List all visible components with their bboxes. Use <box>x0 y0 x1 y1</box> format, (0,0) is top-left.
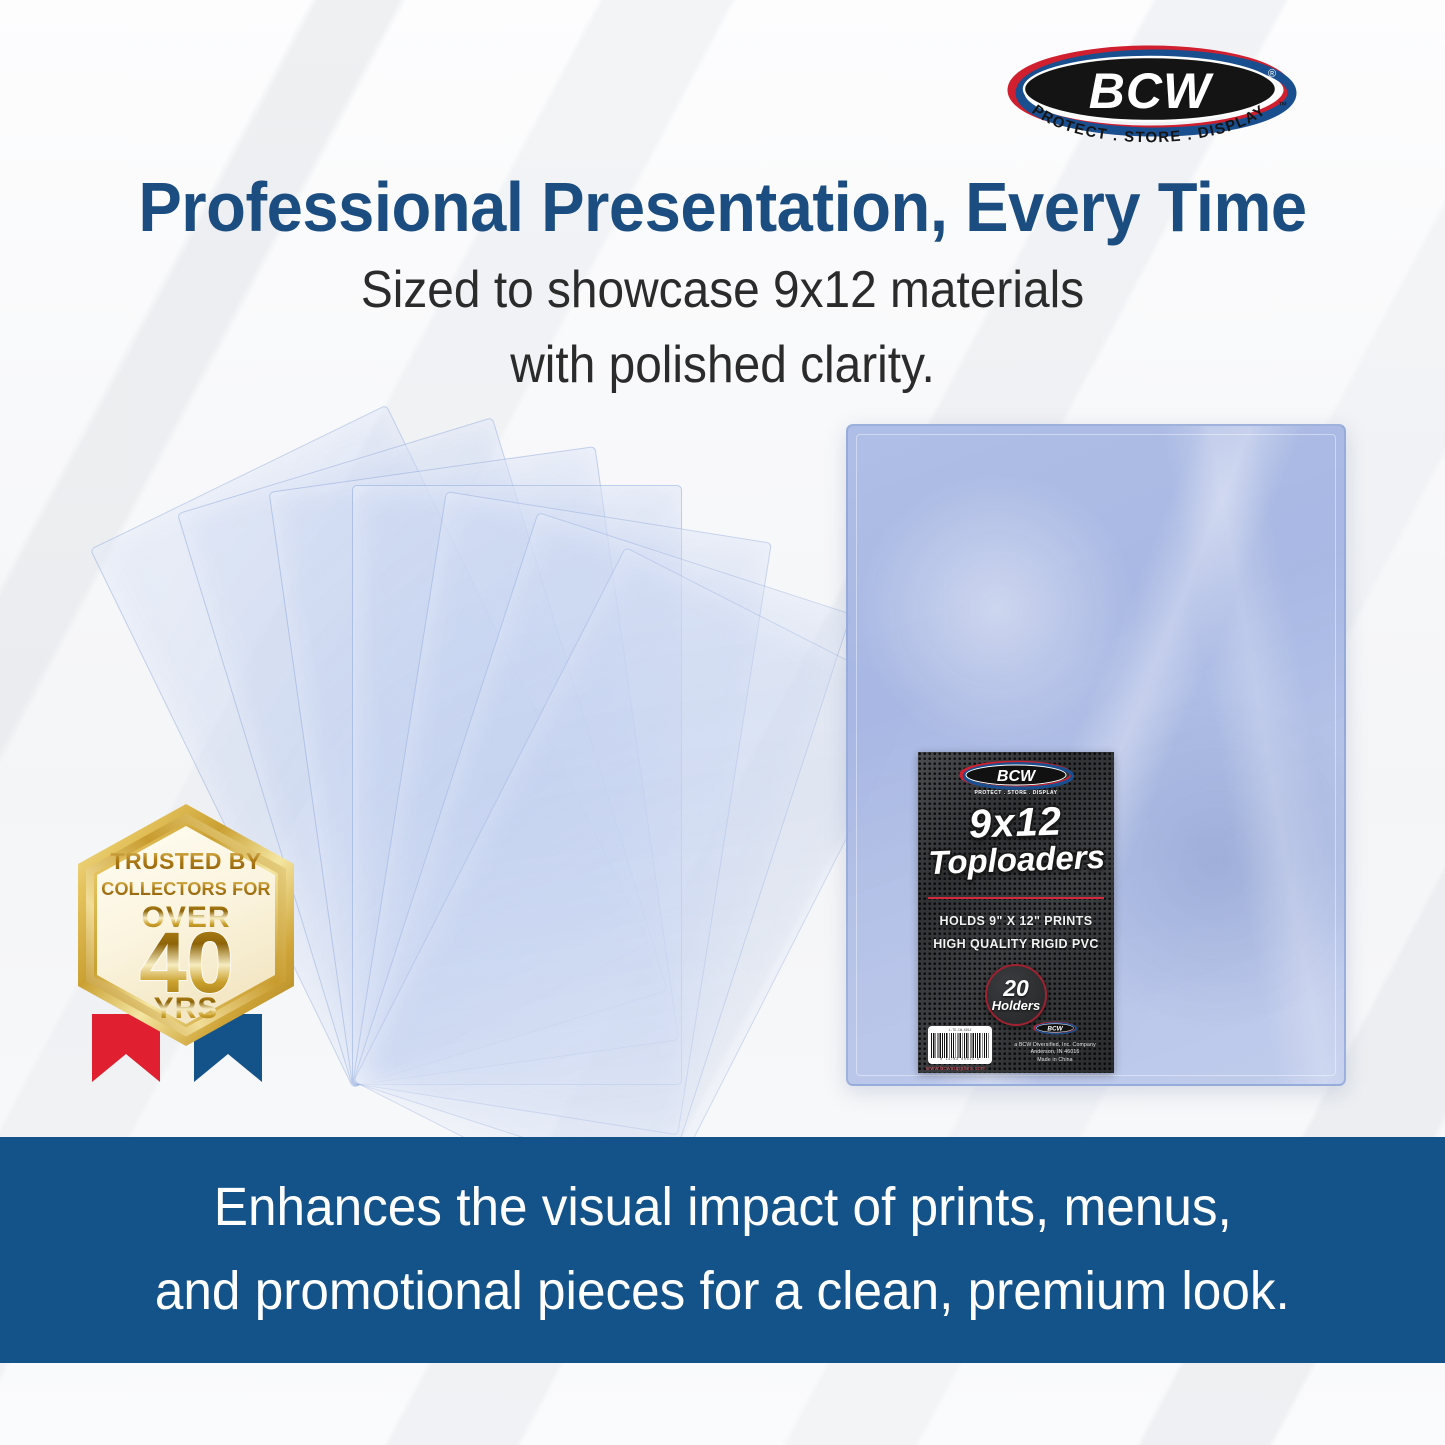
subhead-line-2: with polished clarity. <box>58 328 1387 403</box>
quantity-word: Holders <box>992 999 1040 1012</box>
toploader-sheet <box>352 491 772 1135</box>
toploader-sheet <box>353 547 919 1231</box>
subhead-line-1: Sized to showcase 9x12 materials <box>58 253 1387 328</box>
trademark-mark-icon: ™ <box>1278 100 1287 110</box>
barcode-digits: 0 14783 00811 9 <box>931 1059 989 1062</box>
label-spec-block: HOLDS 9" X 12" PRINTS HIGH QUALITY RIGID… <box>918 910 1114 956</box>
toploader-sheet <box>269 446 679 1086</box>
label-spec-line-1: HOLDS 9" X 12" PRINTS <box>918 910 1114 933</box>
label-footer-block: BCW a BCW Diversified, Inc. Company Ande… <box>1003 1021 1107 1065</box>
badge-line-5: YRS <box>154 992 219 1025</box>
badge-line-2: COLLECTORS FOR <box>101 879 270 899</box>
label-divider-rule <box>928 897 1104 899</box>
footer-banner-line-2: and promotional pieces for a clean, prem… <box>155 1250 1290 1334</box>
label-logo-tagline: PROTECT . STORE . DISPLAY <box>974 790 1057 796</box>
footer-banner-line-1: Enhances the visual impact of prints, me… <box>214 1166 1232 1250</box>
footer-banner: Enhances the visual impact of prints, me… <box>0 1137 1445 1363</box>
label-website: www.bcwsupplies.com <box>926 1066 986 1072</box>
trust-badge: TRUSTED BY COLLECTORS FOR OVER 40 YRS <box>64 796 308 1084</box>
label-bcw-logo: BCW PROTECT . STORE . DISPLAY <box>955 760 1077 798</box>
quantity-number: 20 <box>1003 978 1029 1000</box>
label-logo-wordmark: BCW <box>997 768 1037 785</box>
footer-logo-wordmark: BCW <box>1047 1025 1063 1032</box>
toploader-sheet <box>352 485 682 1085</box>
barcode-top-text: 1-TD-CW-0912 <box>931 1029 989 1032</box>
toploader-sheet <box>352 512 851 1185</box>
barcode: 1-TD-CW-0912 0 14783 00811 9 <box>928 1026 992 1064</box>
label-product-text: Toploaders <box>918 840 1114 880</box>
label-footer-line-3: Made in China <box>1003 1057 1107 1065</box>
quantity-badge: 20 Holders <box>985 964 1047 1026</box>
badge-line-1: TRUSTED BY <box>111 848 262 874</box>
label-footer-line-2: Anderson, IN 46016 <box>1003 1049 1107 1057</box>
label-footer-bcw-logo-icon: BCW <box>1032 1021 1078 1035</box>
registered-mark-icon: ® <box>1268 68 1276 80</box>
product-label: BCW PROTECT . STORE . DISPLAY 9x12 Toplo… <box>918 752 1114 1073</box>
label-footer-line-1: a BCW Diversified, Inc. Company <box>1003 1042 1107 1050</box>
bcw-logo-icon: BCW ® PROTECT . STORE . DISPLAY ™ <box>1000 44 1300 144</box>
page-subhead: Sized to showcase 9x12 materials with po… <box>58 253 1387 403</box>
page-headline: Professional Presentation, Every Time <box>51 172 1395 243</box>
bcw-logo: BCW ® PROTECT . STORE . DISPLAY ™ <box>1000 44 1300 144</box>
bcw-logo-wordmark: BCW <box>1089 63 1214 119</box>
product-marketing-image: BCW ® PROTECT . STORE . DISPLAY ™ Profes… <box>0 0 1445 1445</box>
label-title-block: 9x12 Toploaders <box>918 801 1114 880</box>
label-spec-line-2: HIGH QUALITY RIGID PVC <box>918 933 1114 956</box>
trust-badge-icon: TRUSTED BY COLLECTORS FOR OVER 40 YRS <box>64 796 308 1084</box>
barcode-bars-icon <box>931 1033 989 1057</box>
label-bcw-logo-icon: BCW PROTECT . STORE . DISPLAY <box>955 760 1077 798</box>
